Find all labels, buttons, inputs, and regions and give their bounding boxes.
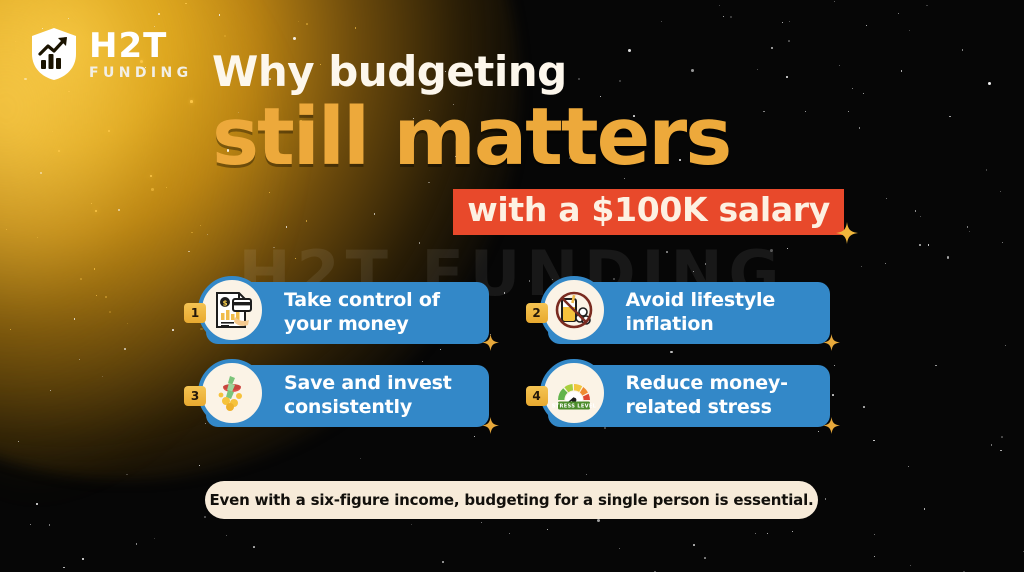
savings-jar-icon [198, 359, 266, 427]
sparkle-icon [823, 334, 840, 356]
sparkle-icon [823, 417, 840, 439]
svg-text:$: $ [223, 300, 228, 308]
sparkle-icon [482, 417, 499, 439]
headline-line-1: Why budgeting [212, 50, 852, 94]
headline-block: Why budgeting still matters with a $100K… [212, 50, 852, 235]
headline-line-2: still matters [212, 98, 852, 177]
brand-logo: H2T FUNDING [28, 26, 193, 82]
benefit-card-4[interactable]: Reduce money-related stress 4 STRESS LEV… [526, 365, 845, 427]
sparkle-icon [482, 334, 499, 356]
stress-gauge-icon: STRESS LEVEL [540, 359, 608, 427]
benefit-card-1[interactable]: Take control of your money 1 $ [184, 282, 503, 344]
benefit-card-3[interactable]: Save and invest consistently 3 [184, 365, 503, 427]
sparkle-icon [836, 222, 858, 249]
financial-report-icon: $ [198, 276, 266, 344]
gauge-label: STRESS LEVEL [551, 403, 596, 409]
poster-canvas: H2T FUNDING H2T FUNDING Why budgeting st… [0, 0, 1024, 572]
no-sugary-drink-icon [540, 276, 608, 344]
brand-tagline: FUNDING [89, 66, 193, 80]
brand-name: H2T [89, 29, 193, 63]
footer-banner: Even with a six-figure income, budgeting… [205, 481, 818, 519]
shield-chart-icon [28, 26, 80, 82]
headline-highlight-row: with a $100K salary [212, 189, 852, 235]
card-number-badge: 1 [184, 303, 206, 323]
benefit-card-2[interactable]: Avoid lifestyle inflation 2 [526, 282, 845, 344]
headline-line-3: with a $100K salary [453, 189, 844, 235]
footer-text: Even with a six-figure income, budgeting… [209, 491, 813, 509]
benefit-card-grid: Take control of your money 1 $ [184, 282, 844, 427]
card-number-badge: 4 [526, 386, 548, 406]
card-number-badge: 2 [526, 303, 548, 323]
card-number-badge: 3 [184, 386, 206, 406]
